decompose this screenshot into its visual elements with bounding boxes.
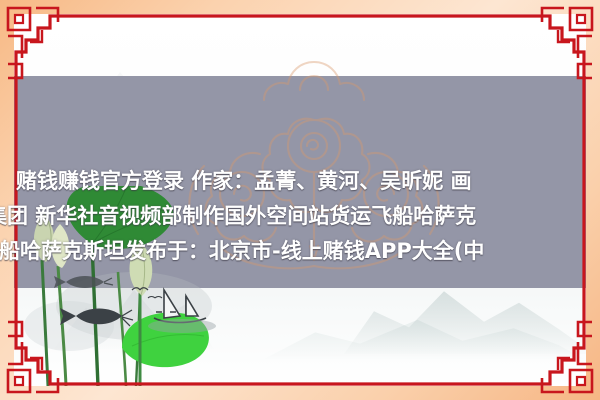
- caption-text-block: 赌钱赚钱官方登录 作家：孟菁、黄河、吴昕妮 画 集团 新华社音视频部制作国外空间…: [0, 164, 600, 269]
- caption-line-3: 飞船哈萨克斯坦发布于：北京市-线上赌钱APP大全(中: [0, 234, 600, 269]
- poster-canvas: 赌钱赚钱官方登录 作家：孟菁、黄河、吴昕妮 画 集团 新华社音视频部制作国外空间…: [0, 0, 600, 400]
- caption-line-1: 赌钱赚钱官方登录 作家：孟菁、黄河、吴昕妮 画: [0, 164, 600, 199]
- caption-line-2: 集团 新华社音视频部制作国外空间站货运飞船哈萨克: [0, 199, 600, 234]
